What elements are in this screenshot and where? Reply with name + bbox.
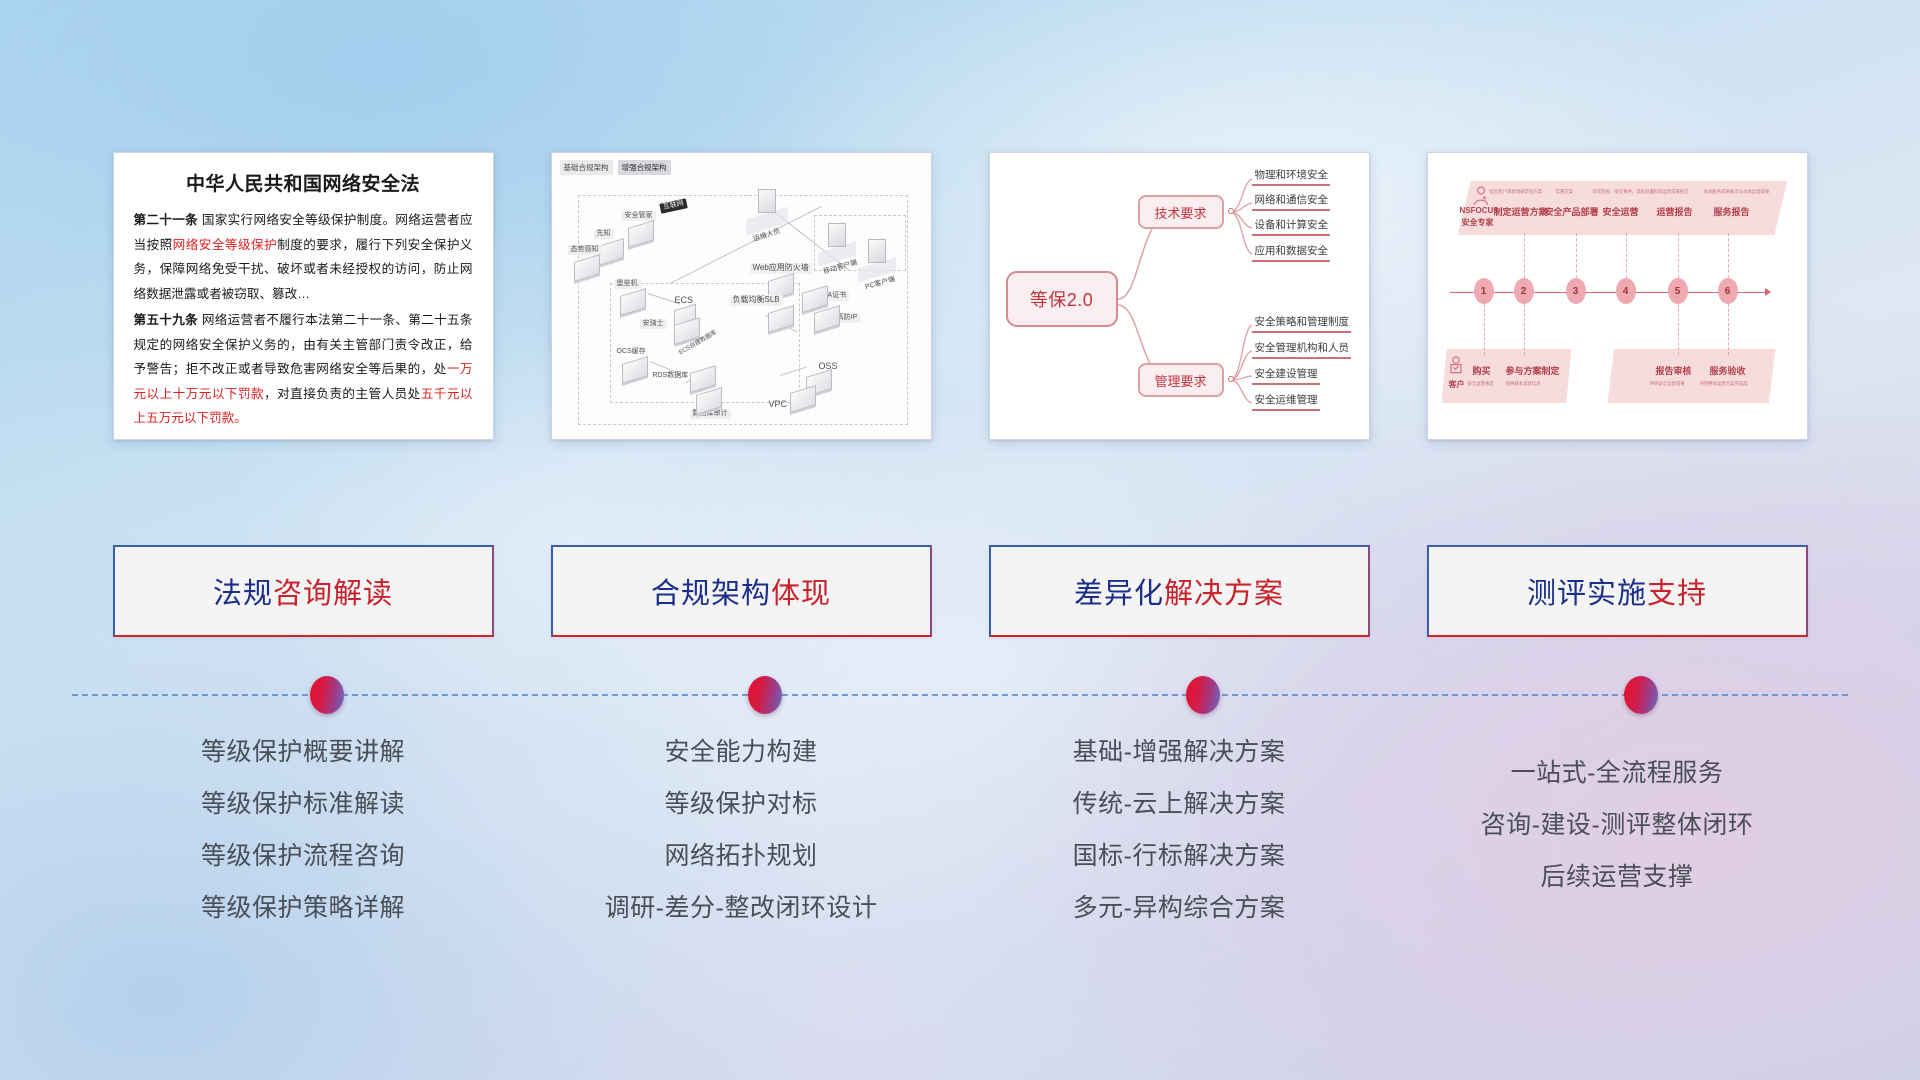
node-slb-label: 负载均衡SLB [730, 295, 783, 306]
section-title-1: 法规咨询解读 [213, 570, 393, 612]
bullet-item: 后续运营支撑 [1427, 865, 1808, 890]
expert-role-label: 安全专家 [1462, 217, 1494, 228]
roadmap-bottom-sub-1: 安全运营报告 [1468, 381, 1494, 387]
roadmap-node-1[interactable]: 1 [1474, 278, 1494, 304]
section-title-2-red: 体现 [771, 578, 831, 610]
architecture-diagram: 基础合规架构 增强合规架构 互联网 安全管家 [552, 153, 931, 439]
node-ops-icon [758, 189, 776, 213]
card-service-roadmap[interactable]: NSFOCUS 安全专家 结合客户现状调研定制方案 制定运营方案 实施方案 安全… [1427, 152, 1808, 440]
mindmap-leaf-tech-4: 应用和数据安全 [1252, 243, 1331, 262]
card-cybersecurity-law[interactable]: 中华人民共和国网络安全法 第二十一条 国家实行网络安全等级保护制度。网络运营者应… [113, 152, 494, 440]
roadmap-tick-1 [1484, 299, 1485, 355]
bullet-item: 多元-异构综合方案 [989, 896, 1370, 921]
bullet-item: 一站式-全流程服务 [1427, 761, 1808, 786]
preview-cards-row: 中华人民共和国网络安全法 第二十一条 国家实行网络安全等级保护制度。网络运营者应… [0, 152, 1920, 444]
roadmap-top-title-4: 运营报告 [1657, 205, 1693, 218]
law-article-59: 第五十九条 网络运营者不履行本法第二十一条、第二十五条规定的网络安全保护义务的，… [134, 308, 473, 431]
roadmap-node-3[interactable]: 3 [1566, 278, 1586, 304]
mindmap: 等保2.0 技术要求 物理和环境安全 网络和通信安全 设备和计算安全 应用和数据… [990, 153, 1369, 439]
section-title-3-red: 解决方案 [1164, 578, 1284, 610]
roadmap-bottom-title-4: 服务验收 [1710, 364, 1746, 377]
mindmap-leaf-mgmt-1: 安全策略和管理制度 [1252, 314, 1352, 333]
timeline-dot-3[interactable] [1186, 676, 1220, 714]
node-waf-label: Web应用防火墙 [750, 263, 812, 274]
bullet-item: 咨询-建设-测评整体闭环 [1427, 813, 1808, 838]
node-bastion-label: 堡垒机 [614, 279, 641, 289]
roadmap-tick-3 [1576, 233, 1577, 283]
node-anqishi-label: 安骑士 [640, 319, 667, 329]
card-compliance-architecture[interactable]: 基础合规架构 增强合规架构 互联网 安全管家 [551, 152, 932, 440]
timeline-dot-1[interactable] [310, 676, 344, 714]
mindmap-leaf-tech-1: 物理和环境安全 [1252, 167, 1331, 186]
roadmap-top-sub-3: 日常巡检、安全事件、高危处置 [1593, 189, 1654, 195]
bullet-item: 国标-行标解决方案 [989, 844, 1370, 869]
mindmap-collapse-dot-management[interactable] [1228, 376, 1234, 382]
section-title-row: 法规咨询解读 合规架构体现 差异化解决方案 测评实施支持 [0, 545, 1920, 637]
section-title-box-2[interactable]: 合规架构体现 [551, 545, 932, 637]
roadmap-node-5[interactable]: 5 [1668, 278, 1688, 304]
node-xianzhi-label: 先知 [594, 229, 614, 239]
roadmap-tick-7 [1524, 299, 1525, 355]
roadmap-axis-arrow [1765, 288, 1771, 296]
section-title-4-red: 支持 [1647, 578, 1707, 610]
mindmap-leaf-mgmt-4: 安全运维管理 [1252, 392, 1320, 411]
service-roadmap: NSFOCUS 安全专家 结合客户现状调研定制方案 制定运营方案 实施方案 安全… [1428, 153, 1807, 439]
bullet-item: 等级保护概要讲解 [113, 740, 494, 765]
timeline-dot-4[interactable] [1624, 676, 1658, 714]
roadmap-bottom-sub-2: 提供基本现状信息 [1506, 381, 1541, 387]
roadmap-bottom-title-3: 报告审核 [1656, 364, 1692, 377]
roadmap-bottom-title-2: 参与方案制定 [1506, 364, 1560, 377]
bullet-item: 传统-云上解决方案 [989, 792, 1370, 817]
mindmap-leaf-mgmt-2: 安全管理机构和人员 [1252, 340, 1352, 359]
roadmap-node-4[interactable]: 4 [1616, 278, 1636, 304]
roadmap-top-sub-2: 实施方案 [1556, 189, 1574, 195]
timeline-dot-2[interactable] [748, 676, 782, 714]
node-ocs-label: OCS缓存 [614, 347, 649, 357]
law-article-21: 第二十一条 国家实行网络安全等级保护制度。网络运营者应当按照网络安全等级保护制度… [134, 208, 473, 306]
node-pc-icon [868, 239, 886, 263]
bullet-item: 网络拓扑规划 [551, 844, 932, 869]
mindmap-collapse-dot-technical[interactable] [1228, 208, 1234, 214]
node-vpc-label: VPC [766, 399, 791, 411]
node-security-butler-label: 安全管家 [622, 211, 656, 221]
section-title-box-3[interactable]: 差异化解决方案 [989, 545, 1370, 637]
architecture-canvas: 互联网 安全管家 先知 态势感知 堡垒机 [552, 153, 931, 439]
roadmap-tick-6 [1728, 233, 1729, 283]
section-title-3-blue: 差异化 [1074, 578, 1164, 610]
section-title-1-blue: 法规 [213, 578, 273, 610]
customer-role-label: 客户 [1449, 379, 1465, 390]
expert-person-icon [1472, 186, 1490, 206]
section-title-4-blue: 测评实施 [1527, 578, 1647, 610]
bullet-columns: 等级保护概要讲解 等级保护标准解读 等级保护流程咨询 等级保护策略详解 安全能力… [0, 740, 1920, 948]
roadmap-tick-2 [1524, 233, 1525, 283]
article-59-label: 第五十九条 [134, 313, 199, 327]
node-rds-label: RDS数据库 [650, 371, 692, 381]
mindmap-leaf-tech-3: 设备和计算安全 [1252, 217, 1331, 236]
bullet-column-4: 一站式-全流程服务 咨询-建设-测评整体闭环 后续运营支撑 [1427, 740, 1808, 948]
roadmap-top-sub-1: 结合客户现状调研定制方案 [1490, 189, 1543, 195]
roadmap-tick-8 [1678, 299, 1679, 355]
bullet-item: 等级保护流程咨询 [113, 844, 494, 869]
section-title-4: 测评实施支持 [1527, 570, 1707, 612]
article-59-text-b: ，对直接负责的主管人员处 [264, 387, 421, 401]
section-title-2: 合规架构体现 [651, 570, 831, 612]
mindmap-leaf-mgmt-3: 安全建设管理 [1252, 366, 1320, 385]
mindmap-leaf-tech-2: 网络和通信安全 [1252, 192, 1331, 211]
roadmap-node-6[interactable]: 6 [1718, 278, 1738, 304]
article-21-highlight: 网络安全等级保护 [173, 238, 277, 252]
bullet-item: 安全能力构建 [551, 740, 932, 765]
roadmap-top-sub-4: 阶段运营成果报告 [1654, 189, 1689, 195]
roadmap-bottom-title-1: 购买 [1473, 364, 1491, 377]
bullet-item: 等级保护标准解读 [113, 792, 494, 817]
node-situation-label: 态势感知 [568, 245, 602, 255]
timeline [72, 694, 1848, 696]
mindmap-branch-management: 管理要求 [1138, 363, 1224, 397]
roadmap-top-title-3: 安全运营 [1603, 205, 1639, 218]
node-mobile-icon [828, 223, 846, 247]
bullet-column-1: 等级保护概要讲解 等级保护标准解读 等级保护流程咨询 等级保护策略详解 [113, 740, 494, 948]
article-21-label: 第二十一条 [134, 213, 199, 227]
mindmap-branch-technical: 技术要求 [1138, 195, 1224, 229]
section-title-box-1[interactable]: 法规咨询解读 [113, 545, 494, 637]
roadmap-tick-5 [1678, 233, 1679, 283]
roadmap-node-2[interactable]: 2 [1514, 278, 1534, 304]
roadmap-tick-4 [1626, 233, 1627, 283]
customer-person-icon [1448, 356, 1464, 376]
card-mindmap-dengbao[interactable]: 等保2.0 技术要求 物理和环境安全 网络和通信安全 设备和计算安全 应用和数据… [989, 152, 1370, 440]
roadmap-top-title-2: 安全产品部署 [1545, 205, 1599, 218]
roadmap-bottom-sub-4: 评审整体运营方案完成度 [1700, 381, 1748, 387]
roadmap-top-sub-5: 总体服务成果展示与总体运营成果 [1704, 189, 1770, 195]
bullet-column-3: 基础-增强解决方案 传统-云上解决方案 国标-行标解决方案 多元-异构综合方案 [989, 740, 1370, 948]
section-title-box-4[interactable]: 测评实施支持 [1427, 545, 1808, 637]
roadmap-top-title-1: 制定运营方案 [1494, 205, 1548, 218]
law-title: 中华人民共和国网络安全法 [134, 169, 473, 196]
bullet-column-2: 安全能力构建 等级保护对标 网络拓扑规划 调研-差分-整改闭环设计 [551, 740, 932, 948]
mindmap-root: 等保2.0 [1006, 271, 1118, 327]
roadmap-top-title-5: 服务报告 [1714, 205, 1750, 218]
section-title-3: 差异化解决方案 [1074, 570, 1284, 612]
section-title-2-blue: 合规架构 [651, 578, 771, 610]
roadmap-bottom-sub-3: 评审安全运营成果 [1650, 381, 1685, 387]
bullet-item: 基础-增强解决方案 [989, 740, 1370, 765]
section-title-1-red: 咨询解读 [273, 578, 393, 610]
bullet-item: 等级保护策略详解 [113, 896, 494, 921]
roadmap-tick-9 [1728, 299, 1729, 355]
bullet-item: 调研-差分-整改闭环设计 [551, 896, 932, 921]
bullet-item: 等级保护对标 [551, 792, 932, 817]
